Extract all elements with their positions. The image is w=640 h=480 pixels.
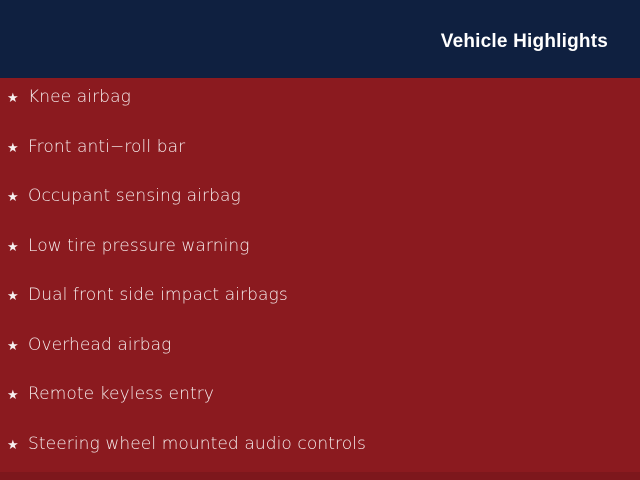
star-bullet-icon: ★	[7, 389, 28, 402]
slide-body: ★ Knee airbag ★ Front anti−roll bar ★ Oc…	[0, 78, 640, 480]
page-title: Vehicle Highlights	[441, 31, 608, 53]
bottom-accent-band	[0, 472, 640, 480]
list-item: ★ Knee airbag	[0, 89, 640, 139]
star-bullet-icon: ★	[7, 142, 28, 155]
list-item-label: Steering wheel mounted audio controls	[28, 436, 366, 453]
star-bullet-icon: ★	[7, 439, 28, 452]
list-item-label: Overhead airbag	[28, 337, 171, 354]
slide-header: Vehicle Highlights	[0, 0, 640, 78]
list-item: ★ Occupant sensing airbag	[0, 188, 640, 238]
list-item: ★ Low tire pressure warning	[0, 238, 640, 288]
list-item: ★ Dual front side impact airbags	[0, 287, 640, 337]
star-bullet-icon: ★	[7, 340, 28, 353]
list-item-label: Knee airbag	[28, 89, 131, 106]
list-item-label: Remote keyless entry	[28, 386, 214, 403]
star-bullet-icon: ★	[7, 241, 28, 254]
list-item-label: Front anti−roll bar	[28, 139, 185, 156]
list-item-label: Occupant sensing airbag	[28, 188, 241, 205]
list-item: ★ Front anti−roll bar	[0, 139, 640, 189]
vehicle-highlights-slide: Vehicle Highlights ★ Knee airbag ★ Front…	[0, 0, 640, 480]
list-item-label: Dual front side impact airbags	[28, 287, 288, 304]
vehicle-highlights-list: ★ Knee airbag ★ Front anti−roll bar ★ Oc…	[0, 78, 640, 480]
list-item: ★ Remote keyless entry	[0, 386, 640, 436]
list-item-label: Low tire pressure warning	[28, 238, 250, 255]
list-item: ★ Overhead airbag	[0, 337, 640, 387]
star-bullet-icon: ★	[7, 191, 28, 204]
star-bullet-icon: ★	[7, 92, 28, 105]
star-bullet-icon: ★	[7, 290, 28, 303]
